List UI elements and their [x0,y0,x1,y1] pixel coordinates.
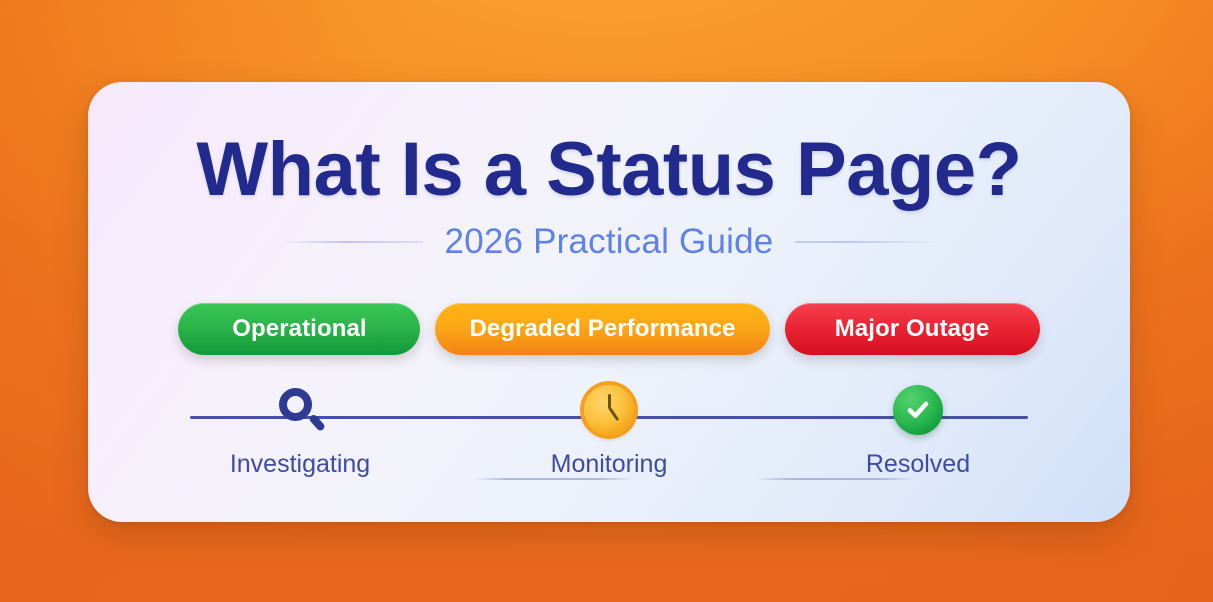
timeline-step-investigating[interactable]: Investigating [210,382,390,479]
status-pill-group: Operational Degraded Performance Major O… [88,303,1130,355]
check-circle-icon [890,382,946,438]
timeline-step-label-investigating: Investigating [230,450,370,479]
status-pill-operational[interactable]: Operational [178,303,420,355]
timeline-step-label-monitoring: Monitoring [551,450,668,479]
timeline-step-label-resolved: Resolved [866,450,970,479]
subtitle-row: 2026 Practical Guide [88,222,1130,262]
status-page-card: What Is a Status Page? 2026 Practical Gu… [88,82,1130,522]
clock-icon [581,382,637,438]
page-subtitle: 2026 Practical Guide [445,222,774,262]
subtitle-rule-right [795,241,937,243]
timeline-nodes: Investigating Monitoring [88,382,1130,479]
magnifying-glass-icon [272,382,328,438]
page-title: What Is a Status Page? [88,126,1130,213]
status-pill-degraded-performance[interactable]: Degraded Performance [435,303,769,355]
timeline-step-resolved[interactable]: Resolved [828,382,1008,479]
incident-timeline: Investigating Monitoring [88,382,1130,492]
timeline-step-monitoring[interactable]: Monitoring [519,382,699,479]
subtitle-rule-left [281,241,423,243]
status-pill-major-outage[interactable]: Major Outage [785,303,1040,355]
